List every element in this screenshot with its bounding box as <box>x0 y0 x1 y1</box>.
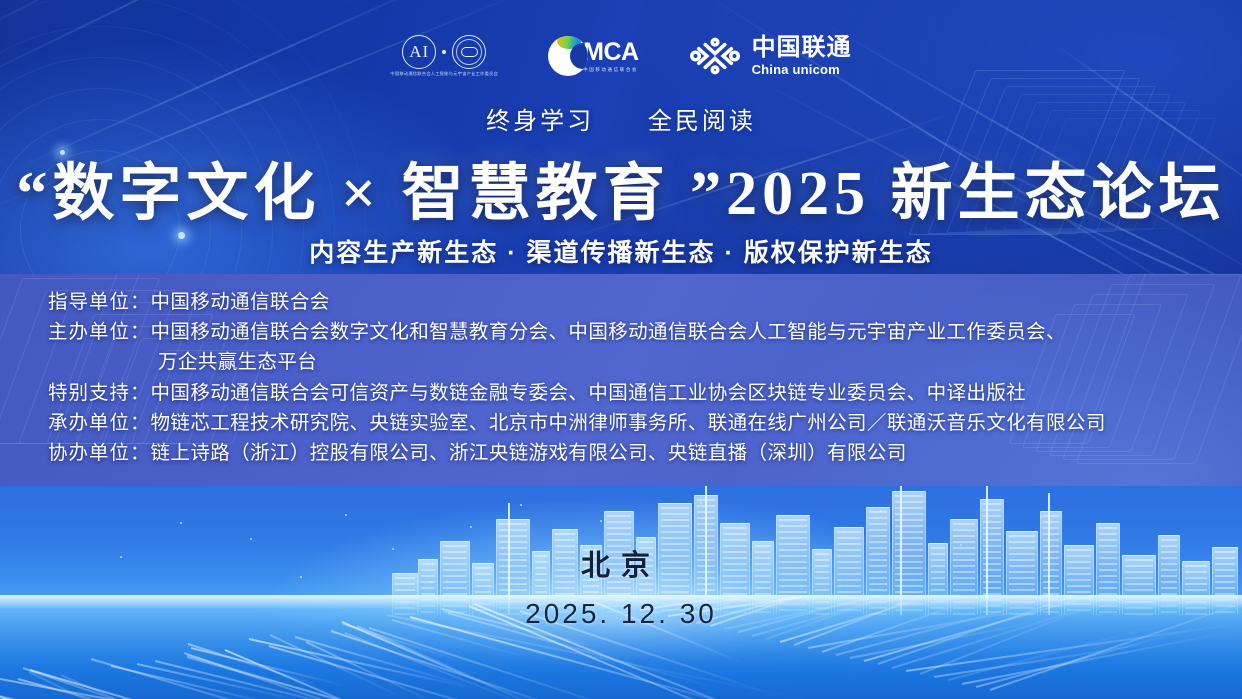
mca-globe-icon <box>548 36 588 76</box>
mca-wordmark: MCA <box>583 40 638 65</box>
kicker-left: 终身学习 <box>486 108 594 135</box>
organizer-credits: 指导单位：中国移动通信联合会主办单位：中国移动通信联合会数字文化和智慧教育分会、… <box>0 287 1242 468</box>
mca-logo: MCA 中国移动通信联合会 <box>548 36 638 76</box>
event-location: 北京 <box>0 542 1242 584</box>
conference-poster: AI 中国移动通信联合会人工智能与元宇宙产业工作委员会 MCA 中国移动通信联合… <box>0 0 1242 699</box>
cityscape-band <box>0 486 1242 699</box>
ai-circle-icon: AI <box>402 35 436 69</box>
mca-logo-caption: 中国移动通信联合会 <box>583 67 638 73</box>
credit-label: 承办单位： <box>48 412 151 434</box>
credit-line: 特别支持：中国移动通信联合会可信资产与数链金融专委会、中国通信工业协会区块链专业… <box>48 378 1194 408</box>
china-unicom-logo: 中国联通 China unicom <box>689 36 852 76</box>
separator-dot-icon <box>442 50 446 54</box>
committee-seal-icon <box>452 35 486 69</box>
credit-label: 特别支持： <box>48 382 151 404</box>
unicom-knot-icon <box>689 37 741 75</box>
credit-value: 链上诗路（浙江）控股有限公司、浙江央链游戏有限公司、央链直播（深圳）有限公司 <box>151 442 907 464</box>
credit-value: 中国移动通信联合会 <box>151 291 330 313</box>
credit-value: 物链芯工程技术研究院、央链实验室、北京市中洲律师事务所、联通在线广州公司／联通沃… <box>151 412 1106 434</box>
poster-kicker: 终身学习 全民阅读 <box>0 101 1242 136</box>
unicom-cn-wordmark: 中国联通 <box>752 36 852 60</box>
credit-label: 协办单位： <box>48 442 151 464</box>
credit-label: 主办单位： <box>48 321 151 343</box>
poster-title: “数字文化 × 智慧教育 ”2025 新生态论坛 <box>0 142 1242 232</box>
credit-line: 万企共赢生态平台 <box>48 347 1194 377</box>
credit-label: 指导单位： <box>48 291 151 313</box>
unicom-en-wordmark: China unicom <box>752 63 852 76</box>
event-date: 2025. 12. 30 <box>0 598 1242 630</box>
credit-line: 承办单位：物链芯工程技术研究院、央链实验室、北京市中洲律师事务所、联通在线广州公… <box>48 408 1194 438</box>
credit-value: 万企共赢生态平台 <box>158 351 317 373</box>
ai-logo-caption: 中国移动通信联合会人工智能与元宇宙产业工作委员会 <box>390 71 498 77</box>
credit-line: 协办单位：链上诗路（浙江）控股有限公司、浙江央链游戏有限公司、央链直播（深圳）有… <box>48 438 1194 468</box>
credit-value: 中国移动通信联合会数字文化和智慧教育分会、中国移动通信联合会人工智能与元宇宙产业… <box>151 321 1066 343</box>
credit-line: 指导单位：中国移动通信联合会 <box>48 287 1194 317</box>
kicker-right: 全民阅读 <box>648 108 756 135</box>
credit-line: 主办单位：中国移动通信联合会数字文化和智慧教育分会、中国移动通信联合会人工智能与… <box>48 317 1194 347</box>
credit-value: 中国移动通信联合会可信资产与数链金融专委会、中国通信工业协会区块链专业委员会、中… <box>151 382 1027 404</box>
ai-committee-logo: AI 中国移动通信联合会人工智能与元宇宙产业工作委员会 <box>390 35 498 77</box>
sponsor-logo-row: AI 中国移动通信联合会人工智能与元宇宙产业工作委员会 MCA 中国移动通信联合… <box>0 27 1242 85</box>
poster-subtitle: 内容生产新生态 · 渠道传播新生态 · 版权保护新生态 <box>0 233 1242 269</box>
